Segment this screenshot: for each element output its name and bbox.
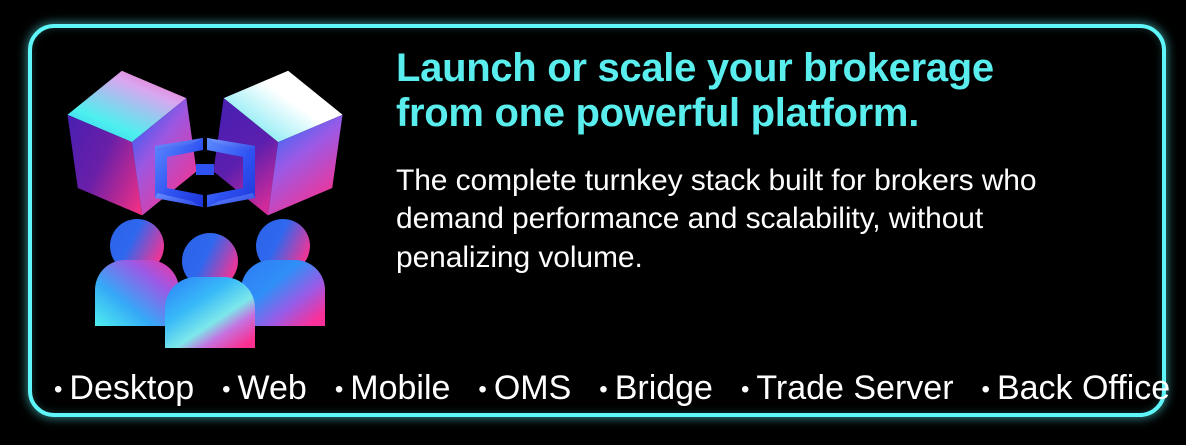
bullet-item-back-office: • Back Office — [982, 371, 1171, 405]
bullet-label: Bridge — [615, 371, 713, 405]
bullet-item-web: • Web — [222, 371, 307, 405]
banner-content: Launch or scale your brokerage from one … — [32, 28, 1162, 413]
feature-bullet-list: • Desktop • Web • Mobile • OMS • Bridge … — [32, 371, 1162, 413]
bullet-label: Desktop — [69, 371, 194, 405]
people-group-icon — [95, 219, 325, 348]
bullet-dot-icon: • — [335, 378, 343, 402]
bullet-label: Trade Server — [756, 371, 953, 405]
bullet-label: Web — [238, 371, 307, 405]
subcopy: The complete turnkey stack built for bro… — [396, 162, 1162, 276]
bullet-label: Back Office — [997, 371, 1170, 405]
bullet-dot-icon: • — [54, 378, 62, 402]
bullet-item-trade-server: • Trade Server — [741, 371, 954, 405]
bullet-dot-icon: • — [222, 378, 230, 402]
bullet-dot-icon: • — [741, 378, 749, 402]
bullet-label: Mobile — [350, 371, 450, 405]
connected-blocks-with-people-illustration — [55, 58, 373, 348]
promo-banner: Launch or scale your brokerage from one … — [0, 0, 1186, 445]
bullet-item-mobile: • Mobile — [335, 371, 451, 405]
bullet-dot-icon: • — [599, 378, 607, 402]
bullet-dot-icon: • — [478, 378, 486, 402]
bullet-label: OMS — [494, 371, 571, 405]
text-column: Launch or scale your brokerage from one … — [396, 28, 1162, 277]
headline: Launch or scale your brokerage from one … — [396, 46, 1162, 136]
bullet-item-bridge: • Bridge — [599, 371, 713, 405]
illustration-svg — [55, 58, 373, 348]
bullet-item-desktop: • Desktop — [54, 371, 194, 405]
bullet-item-oms: • OMS — [478, 371, 571, 405]
banner-upper-row: Launch or scale your brokerage from one … — [32, 28, 1162, 371]
bullet-dot-icon: • — [982, 378, 990, 402]
